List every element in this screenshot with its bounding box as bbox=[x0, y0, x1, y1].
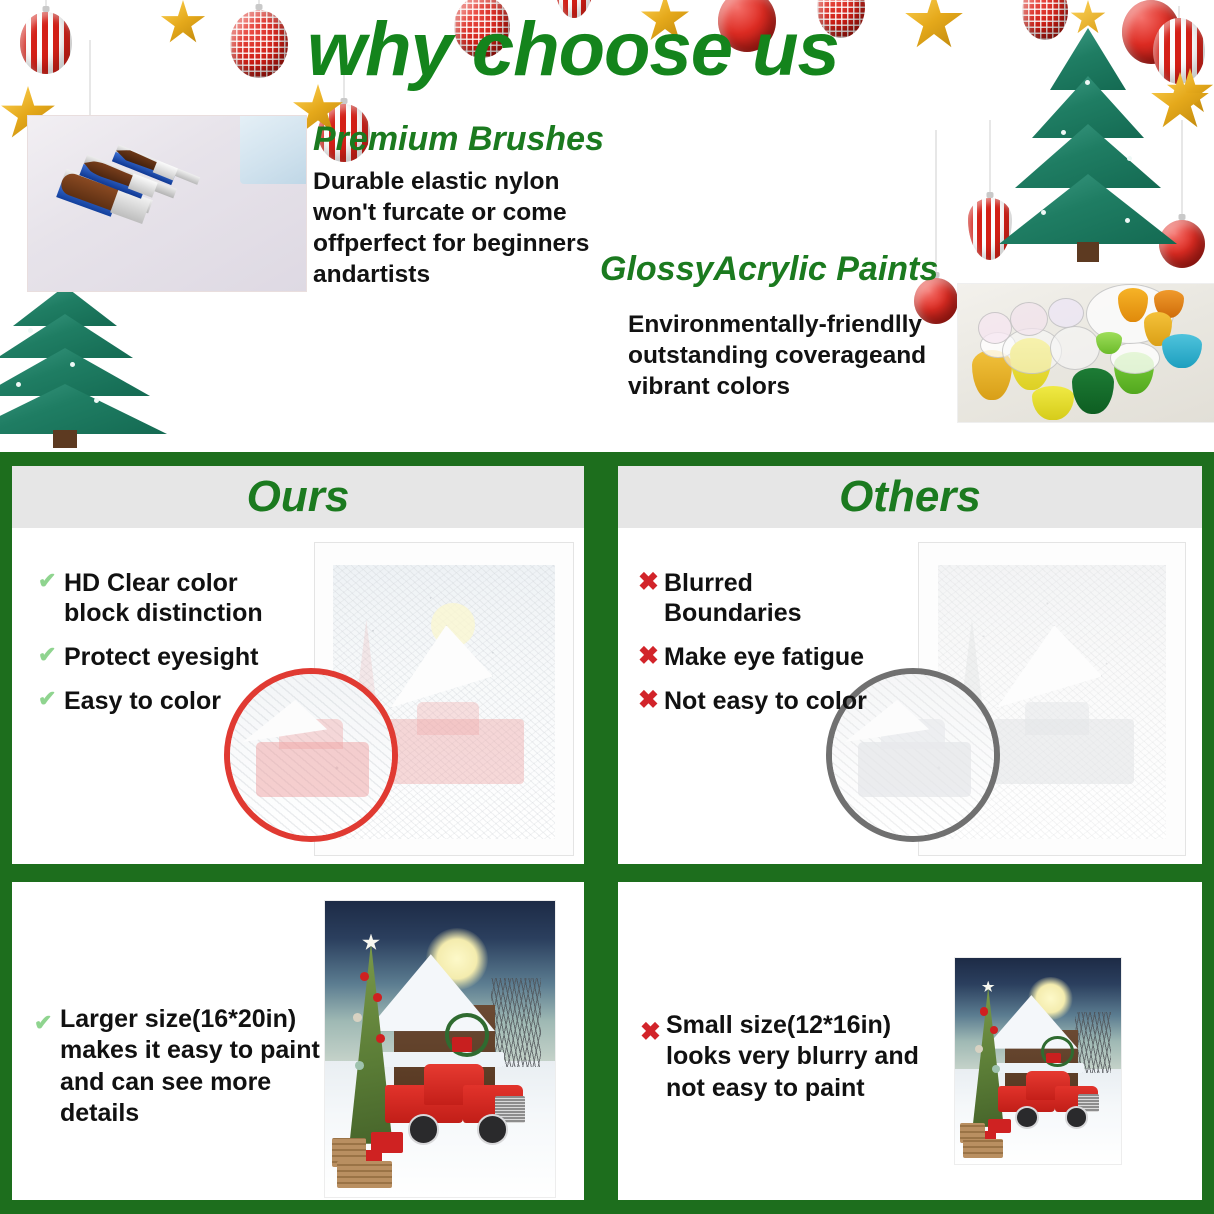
paint-pot bbox=[1162, 334, 1202, 368]
check-icon: ✔ bbox=[38, 642, 64, 667]
tree-ornament bbox=[360, 972, 369, 981]
truck-wheel bbox=[1015, 1106, 1039, 1129]
line-art-truck-cab bbox=[1025, 702, 1089, 735]
wreath-bow bbox=[1046, 1053, 1061, 1063]
cross-icon: ✖ bbox=[638, 686, 664, 715]
list-item-label: HD Clear color block distinction bbox=[64, 568, 288, 628]
ours-finished-painting bbox=[324, 900, 556, 1198]
painting-scene bbox=[955, 958, 1121, 1164]
paint-pot bbox=[1032, 386, 1074, 420]
truck-wheel bbox=[408, 1114, 440, 1145]
ours-size-label: Larger size(16*20in) makes it easy to pa… bbox=[60, 1004, 324, 1129]
gold-star bbox=[160, 0, 206, 46]
others-size-feature: ✖ Small size(12*16in) looks very blurry … bbox=[640, 1010, 930, 1104]
paint-pot-lid bbox=[978, 312, 1012, 344]
grid-ornament-ball bbox=[228, 0, 290, 104]
list-item-label: Protect eyesight bbox=[64, 642, 259, 672]
feature-heading-brushes: Premium Brushes bbox=[313, 120, 604, 159]
paint-pot-lid bbox=[1048, 298, 1084, 328]
christmas-tree-right bbox=[995, 6, 1181, 292]
list-item-label: Blurred Boundaries bbox=[664, 568, 888, 628]
painting-scene bbox=[325, 901, 555, 1197]
comparison-section: Ours bbox=[0, 452, 1214, 1214]
ours-feature-list: ✔ HD Clear color block distinction ✔ Pro… bbox=[38, 568, 288, 730]
list-item-label: Make eye fatigue bbox=[664, 642, 864, 672]
others-top-panel: Others ✖ Blurred Boundar bbox=[618, 466, 1202, 864]
wooden-crate bbox=[337, 1161, 392, 1188]
tree-ornament bbox=[975, 1045, 983, 1053]
list-item: ✖ Make eye fatigue bbox=[638, 642, 888, 672]
paint-brushes-photo bbox=[27, 115, 307, 292]
red-ornament-ball bbox=[908, 130, 964, 320]
christmas-tree-left bbox=[0, 286, 168, 450]
list-item-label: Easy to color bbox=[64, 686, 221, 716]
tree-ornament bbox=[980, 1007, 988, 1015]
paint-pot-lid bbox=[1050, 326, 1100, 370]
others-title: Others bbox=[618, 472, 1202, 522]
paint-pot-lid bbox=[1010, 302, 1048, 336]
feature-body-brushes: Durable elastic nylon won't furcate or c… bbox=[313, 167, 613, 290]
cross-icon: ✖ bbox=[638, 568, 664, 597]
check-icon: ✔ bbox=[38, 568, 64, 593]
check-icon: ✔ bbox=[34, 1010, 60, 1035]
promo-page: why choose us Premium Brushes Durable el… bbox=[0, 0, 1214, 1214]
truck-wheel bbox=[477, 1114, 509, 1145]
others-finished-painting bbox=[954, 957, 1122, 1165]
feature-heading-paints: GlossyAcrylic Paints bbox=[600, 250, 938, 289]
cross-icon: ✖ bbox=[640, 1018, 666, 1047]
tree-ornament bbox=[355, 1061, 364, 1070]
water-container bbox=[240, 115, 307, 184]
ours-bottom-panel: ✔ Larger size(16*20in) makes it easy to … bbox=[12, 882, 584, 1200]
others-size-label: Small size(12*16in) looks very blurry an… bbox=[666, 1010, 930, 1104]
ours-top-panel: Ours bbox=[12, 466, 584, 864]
check-icon: ✔ bbox=[38, 686, 64, 711]
list-item: ✔ HD Clear color block distinction bbox=[38, 568, 288, 628]
line-art-truck-cab bbox=[417, 702, 479, 735]
truck-wheel bbox=[1065, 1106, 1089, 1129]
list-item: ✔ Easy to color bbox=[38, 686, 288, 716]
others-feature-list: ✖ Blurred Boundaries ✖ Make eye fatigue … bbox=[638, 568, 888, 730]
paint-pot bbox=[1072, 368, 1114, 414]
list-item: ✖ Not easy to color bbox=[638, 686, 888, 716]
tree-ornament bbox=[376, 1034, 385, 1043]
page-title: why choose us bbox=[307, 12, 947, 88]
cross-icon: ✖ bbox=[638, 642, 664, 671]
ours-title: Ours bbox=[12, 472, 584, 522]
header-section: why choose us Premium Brushes Durable el… bbox=[0, 0, 1214, 452]
list-item: ✔ Protect eyesight bbox=[38, 642, 288, 672]
list-item: ✖ Blurred Boundaries bbox=[638, 568, 888, 628]
wooden-crate bbox=[963, 1139, 1003, 1158]
feature-body-paints: Environmentally-friendlly outstanding co… bbox=[628, 310, 958, 403]
others-bottom-panel: ✖ Small size(12*16in) looks very blurry … bbox=[618, 882, 1202, 1200]
wreath-bow bbox=[452, 1037, 473, 1052]
list-item-label: Not easy to color bbox=[664, 686, 867, 716]
acrylic-paint-pots-photo bbox=[957, 283, 1214, 423]
ours-size-feature: ✔ Larger size(16*20in) makes it easy to … bbox=[34, 1004, 324, 1129]
